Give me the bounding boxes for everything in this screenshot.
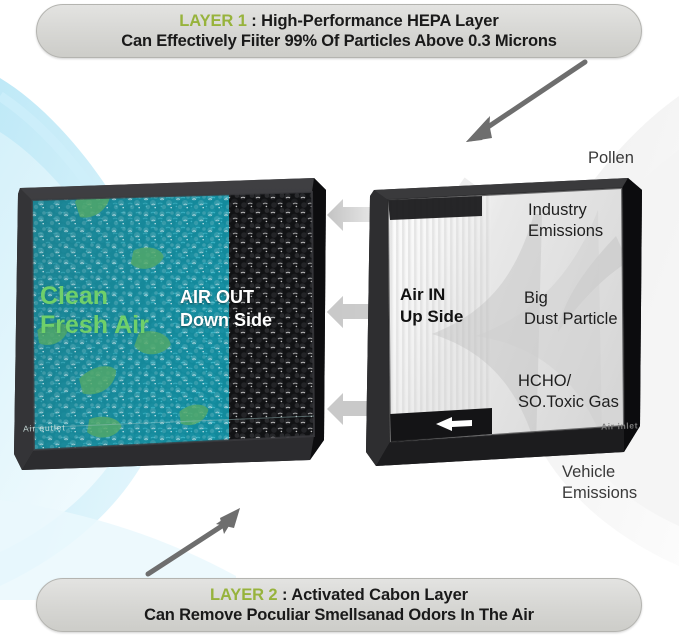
banner-layer-1-heading: High-Performance HEPA Layer: [261, 12, 499, 30]
pointer-arrow-to-hepa-icon: [452, 56, 592, 148]
contaminant-label-industry-emissions: Industry Emissions: [528, 200, 603, 243]
banner-layer-1-separator: :: [247, 12, 261, 30]
contaminant-label-pollen: Pollen: [588, 148, 634, 169]
banner-layer-2-tag: LAYER 2: [210, 586, 277, 604]
pointer-arrow-to-hepa: [452, 56, 592, 153]
clean-fresh-air-label: Clean Fresh Air: [40, 282, 149, 340]
banner-layer-1-subtitle: Can Effectively Fiiter 99% Of Particles …: [121, 32, 557, 50]
banner-layer-2-subtitle: Can Remove Poculiar Smellsanad Odors In …: [144, 606, 534, 624]
air-outlet-label: Air outlet: [23, 422, 66, 433]
infographic-canvas: LAYER 1 : High-Performance HEPA Layer Ca…: [0, 0, 679, 638]
banner-layer-2: LAYER 2 : Activated Cabon Layer Can Remo…: [36, 578, 642, 632]
pointer-arrow-to-carbon: [142, 502, 252, 585]
air-out-down-side-label: AIR OUT Down Side: [180, 286, 272, 331]
contaminant-label-hcho-toxic-gas: HCHO/ SO.Toxic Gas: [518, 371, 619, 414]
pointer-arrow-to-carbon-icon: [142, 502, 252, 580]
hepa-frame-right-edge: [622, 178, 642, 452]
banner-layer-1-tag: LAYER 1: [179, 12, 246, 30]
banner-layer-1-title: LAYER 1 : High-Performance HEPA Layer: [179, 12, 498, 30]
contaminant-label-vehicle-emissions: Vehicle Emissions: [562, 462, 637, 504]
banner-layer-2-separator: :: [278, 586, 292, 604]
contaminant-label-big-dust-particle: Big Dust Particle: [524, 288, 618, 331]
air-in-up-side-label: Air IN Up Side: [400, 284, 463, 329]
hepa-frame-left-edge: [366, 190, 390, 466]
air-inlet-label: Air inlet: [601, 420, 638, 431]
banner-layer-2-heading: Activated Cabon Layer: [291, 586, 468, 604]
banner-layer-1: LAYER 1 : High-Performance HEPA Layer Ca…: [36, 4, 642, 58]
banner-layer-2-title: LAYER 2 : Activated Cabon Layer: [210, 586, 468, 604]
